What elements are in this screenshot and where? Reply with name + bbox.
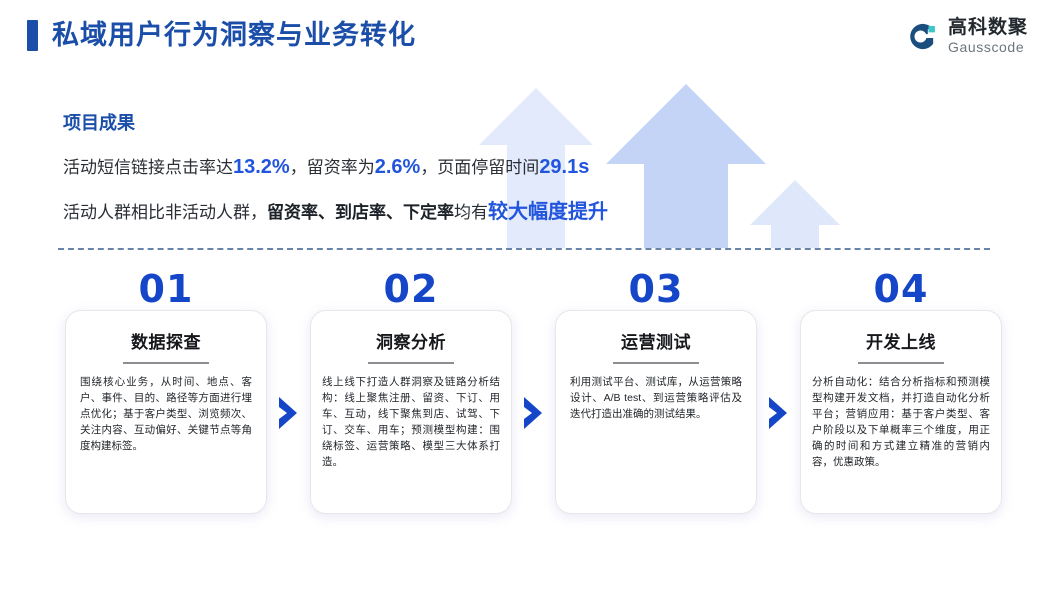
results-l2-part2: 均有 xyxy=(454,203,488,222)
results-line-1: 活动短信链接点击率达13.2%，留资率为2.6%，页面停留时间29.1s xyxy=(63,154,763,181)
step-body-1: 围绕核心业务，从时间、地点、客户、事件、目的、路径等方面进行埋点优化；基于客户类… xyxy=(80,374,252,454)
results-l2-part1: 活动人群相比非活动人群， xyxy=(63,203,267,222)
step-body-3: 利用测试平台、测试库，从运营策略设计、A/B test、到运营策略评估及迭代打造… xyxy=(570,374,742,422)
logo-name-cn: 高科数聚 xyxy=(948,18,1028,37)
step-number-2: 02 xyxy=(311,267,511,311)
results-l2-highlight: 较大幅度提升 xyxy=(488,201,608,223)
results-l1-part1: 活动短信链接点击率达 xyxy=(63,158,233,177)
step-number-4: 04 xyxy=(801,267,1001,311)
steps-row: 01 数据探查 围绕核心业务，从时间、地点、客户、事件、目的、路径等方面进行埋点… xyxy=(0,268,1048,528)
step-number-3: 03 xyxy=(556,267,756,311)
header: 私域用户行为洞察与业务转化 高科数聚 Gausscode xyxy=(0,0,1048,80)
results-metric-ctr: 13.2% xyxy=(233,156,290,178)
results-l1-part3: ，页面停留时间 xyxy=(420,158,539,177)
results-metric-dwell-time: 29.1s xyxy=(539,156,589,178)
project-results-block: 项目成果 活动短信链接点击率达13.2%，留资率为2.6%，页面停留时间29.1… xyxy=(63,110,763,226)
step-rule-3 xyxy=(613,362,699,364)
title-text: 私域用户行为洞察与业务转化 xyxy=(52,20,416,51)
step-title-1: 数据探查 xyxy=(66,328,266,353)
step-card-1[interactable]: 01 数据探查 围绕核心业务，从时间、地点、客户、事件、目的、路径等方面进行埋点… xyxy=(65,310,267,514)
step-title-4: 开发上线 xyxy=(801,328,1001,353)
page-title: 私域用户行为洞察与业务转化 xyxy=(27,20,416,51)
step-card-4[interactable]: 04 开发上线 分析自动化：结合分析指标和预测模型构建开发文档，并打造自动化分析… xyxy=(800,310,1002,514)
results-line-2: 活动人群相比非活动人群，留资率、到店率、下定率均有较大幅度提升 xyxy=(63,199,763,226)
step-title-2: 洞察分析 xyxy=(311,328,511,353)
slide-root: 私域用户行为洞察与业务转化 高科数聚 Gausscode 项目成果 活动短信链接… xyxy=(0,0,1048,591)
dashed-divider xyxy=(58,248,990,250)
arrow-small-right-icon xyxy=(750,180,840,248)
title-accent-bar xyxy=(27,20,38,51)
step-card-3[interactable]: 03 运营测试 利用测试平台、测试库，从运营策略设计、A/B test、到运营策… xyxy=(555,310,757,514)
step-number-1: 01 xyxy=(66,267,266,311)
chevron-right-icon-2 xyxy=(521,396,545,430)
step-rule-4 xyxy=(858,362,944,364)
logo-text: 高科数聚 Gausscode xyxy=(948,18,1028,54)
chevron-right-icon-1 xyxy=(276,396,300,430)
results-heading: 项目成果 xyxy=(63,110,763,136)
step-title-3: 运营测试 xyxy=(556,328,756,353)
chevron-right-icon-3 xyxy=(766,396,790,430)
gausscode-logo-icon xyxy=(904,19,939,54)
step-body-4: 分析自动化：结合分析指标和预测模型构建开发文档，并打造自动化分析平台；营销应用：… xyxy=(812,374,990,470)
step-card-2[interactable]: 02 洞察分析 线上线下打造人群洞察及链路分析结构：线上聚焦注册、留资、下订、用… xyxy=(310,310,512,514)
results-l1-part2: ，留资率为 xyxy=(290,158,375,177)
step-rule-2 xyxy=(368,362,454,364)
step-rule-1 xyxy=(123,362,209,364)
logo-name-en: Gausscode xyxy=(948,40,1028,54)
brand-logo: 高科数聚 Gausscode xyxy=(904,18,1028,54)
step-body-2: 线上线下打造人群洞察及链路分析结构：线上聚焦注册、留资、下订、用车、互动，线下聚… xyxy=(322,374,500,470)
results-metric-lead-rate: 2.6% xyxy=(375,156,421,178)
results-l2-bold-metrics: 留资率、到店率、下定率 xyxy=(267,203,454,222)
